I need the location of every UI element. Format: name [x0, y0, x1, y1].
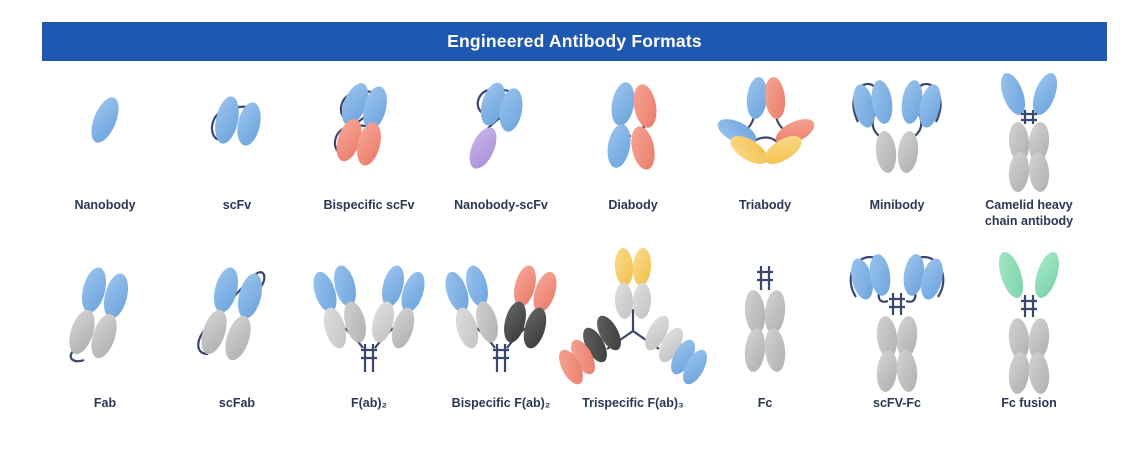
format-label: scFab: [170, 396, 304, 412]
trispecific-fab3-diagram: [566, 250, 700, 390]
format-card-nanobody-scfv: Nanobody-scFv: [434, 68, 568, 233]
format-card-triabody: Triabody: [698, 68, 832, 233]
minibody-diagram: [830, 68, 964, 188]
diabody-diagram: [566, 68, 700, 188]
format-card-fab: Fab: [38, 250, 172, 440]
format-label: Fab: [38, 396, 172, 412]
figure-title: Engineered Antibody Formats: [447, 31, 702, 52]
format-label: Bispecific scFv: [302, 198, 436, 214]
format-label: Trispecific F(ab)₃: [566, 396, 700, 412]
scfv-fc-diagram: [830, 250, 964, 390]
format-card-camelid-heavy-chain-antibody: Camelid heavy chain antibody: [962, 68, 1096, 233]
fc-diagram: [698, 250, 832, 390]
bispecific-scfv-diagram: [302, 68, 436, 188]
fc-fusion-diagram: [962, 250, 1096, 390]
format-card-fab2: F(ab)₂: [302, 250, 436, 440]
engineered-antibody-formats-figure: Engineered Antibody Formats: [0, 0, 1147, 456]
format-label: Camelid heavy chain antibody: [962, 198, 1096, 229]
scfv-diagram: [170, 68, 304, 188]
format-label: Nanobody-scFv: [434, 198, 568, 214]
format-card-minibody: Minibody: [830, 68, 964, 233]
camelid-heavy-chain-antibody-diagram: [962, 68, 1096, 188]
nanobody-diagram: [38, 68, 172, 188]
format-label: Minibody: [830, 198, 964, 214]
format-card-fc: Fc: [698, 250, 832, 440]
antibody-row-top: Nanobody scFv: [0, 68, 1147, 233]
format-label: scFV-Fc: [830, 396, 964, 412]
format-label: F(ab)₂: [302, 396, 436, 412]
format-card-trispecific-fab3: Trispecific F(ab)₃: [566, 250, 700, 440]
format-card-scfv-fc: scFV-Fc: [830, 250, 964, 440]
scfab-diagram: [170, 250, 304, 390]
triabody-diagram: [698, 68, 832, 188]
format-card-bispecific-fab2: Bispecific F(ab)₂: [434, 250, 568, 440]
format-label: Fc: [698, 396, 832, 412]
format-label: Fc fusion: [962, 396, 1096, 412]
format-card-diabody: Diabody: [566, 68, 700, 233]
format-label: Diabody: [566, 198, 700, 214]
bispecific-fab2-diagram: [434, 250, 568, 390]
format-label: Triabody: [698, 198, 832, 214]
nanobody-scfv-diagram: [434, 68, 568, 188]
fab2-diagram: [302, 250, 436, 390]
antibody-row-bottom: Fab scFab: [0, 250, 1147, 440]
format-card-fc-fusion: Fc fusion: [962, 250, 1096, 440]
fab-diagram: [38, 250, 172, 390]
format-card-nanobody: Nanobody: [38, 68, 172, 233]
figure-header-bar: Engineered Antibody Formats: [42, 22, 1107, 61]
format-label: Nanobody: [38, 198, 172, 214]
format-label: scFv: [170, 198, 304, 214]
format-card-scfab: scFab: [170, 250, 304, 440]
format-card-scfv: scFv: [170, 68, 304, 233]
format-card-bispecific-scfv: Bispecific scFv: [302, 68, 436, 233]
format-label: Bispecific F(ab)₂: [434, 396, 568, 412]
